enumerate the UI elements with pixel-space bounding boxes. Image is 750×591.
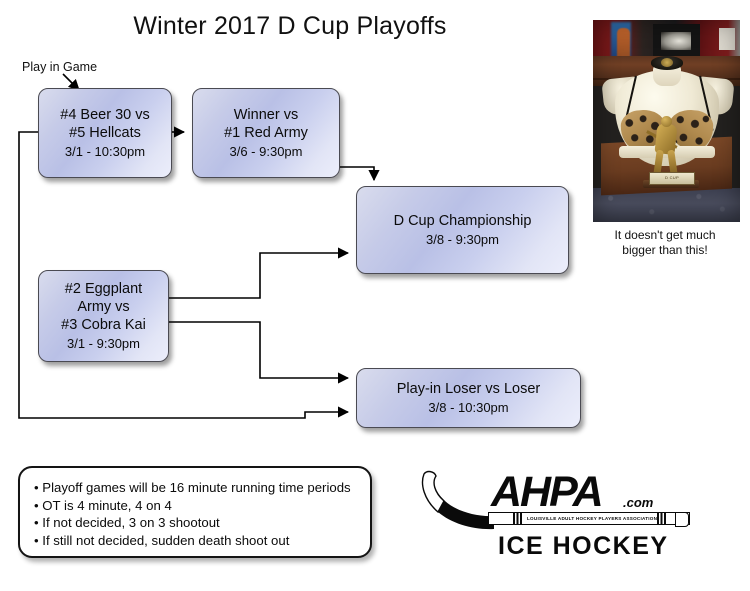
bracket-box-datetime: 3/6 - 9:30pm [230,143,303,160]
bracket-box-semifinal[interactable]: Winner vs #1 Red Army 3/6 - 9:30pm [192,88,340,178]
rule-item: If still not decided, sudden death shoot… [34,532,358,550]
bracket-box-matchup: #2 Eggplant Army vs #3 Cobra Kai [61,280,146,334]
photo-vignette [593,20,740,222]
rule-item: OT is 4 minute, 4 on 4 [34,497,358,515]
bracket-box-datetime: 3/8 - 9:30pm [426,231,499,248]
ahpa-subtitle: ICE HOCKEY [498,532,669,561]
connector-semifinal-to-championship [340,167,374,180]
ahpa-wordmark: AHPA [491,470,602,514]
connector-quarterfinal-to-consolation [169,322,348,378]
bracket-box-consolation[interactable]: Play-in Loser vs Loser 3/8 - 10:30pm [356,368,581,428]
bracket-box-championship[interactable]: D Cup Championship 3/8 - 9:30pm [356,186,569,274]
bracket-box-play-in[interactable]: #4 Beer 30 vs #5 Hellcats 3/1 - 10:30pm [38,88,172,178]
ahpa-dotcom-text: .com [623,495,653,510]
bracket-box-datetime: 3/1 - 9:30pm [67,335,140,352]
hockey-stick-shaft: LOUISVILLE ADULT HOCKEY PLAYERS ASSOCIAT… [488,512,690,525]
bracket-box-matchup: Winner vs #1 Red Army [224,106,308,142]
bracket-box-datetime: 3/1 - 10:30pm [65,143,145,160]
rule-item: Playoff games will be 16 minute running … [34,479,358,497]
photo-caption: It doesn't get much bigger than this! [580,228,750,258]
play-in-game-label: Play in Game [22,60,97,74]
stick-tape-band-1 [513,513,522,524]
bracket-box-datetime: 3/8 - 10:30pm [428,399,508,416]
bracket-box-quarterfinal[interactable]: #2 Eggplant Army vs #3 Cobra Kai 3/1 - 9… [38,270,169,362]
bracket-box-matchup: Play-in Loser vs Loser [397,380,540,398]
rule-item: If not decided, 3 on 3 shootout [34,514,358,532]
bracket-box-matchup: #4 Beer 30 vs #5 Hellcats [60,106,149,142]
bracket-box-matchup: D Cup Championship [394,212,532,230]
stick-tape-band-2 [657,513,666,524]
connector-quarterfinal-to-championship [169,253,348,298]
d-cup-trophy-photo: D CUP [593,20,740,222]
stick-butt-end [675,512,689,527]
ahpa-logo: AHPA .com LOUISVILLE ADULT HOCKEY PLAYER… [418,468,708,568]
playoff-rules-box: Playoff games will be 16 minute running … [18,466,372,558]
ahpa-association-text: LOUISVILLE ADULT HOCKEY PLAYERS ASSOCIAT… [527,516,657,521]
page-title: Winter 2017 D Cup Playoffs [0,12,580,41]
